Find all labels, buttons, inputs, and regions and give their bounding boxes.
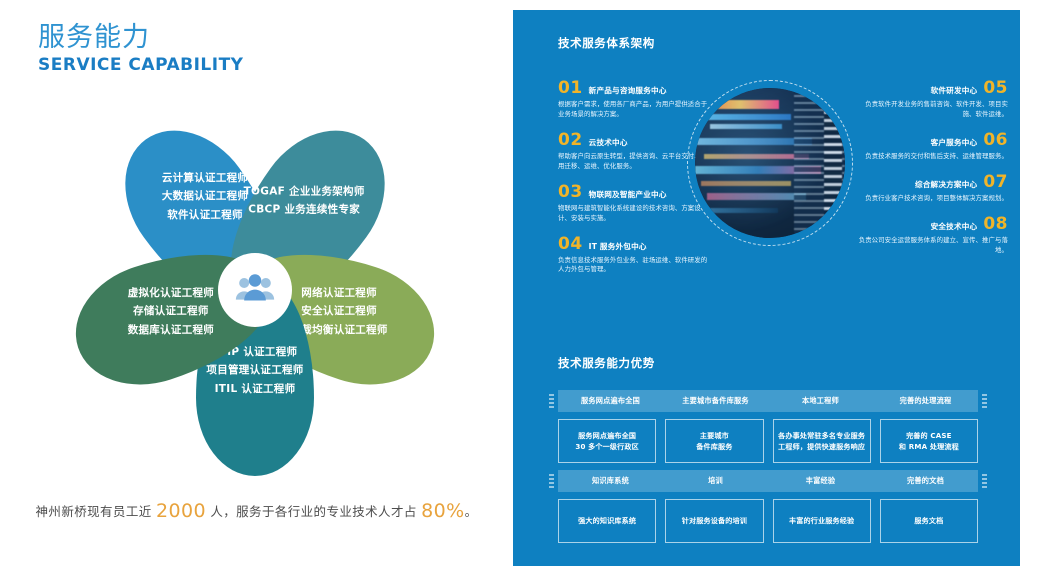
arch-item-06[interactable]: 客户服务中心 06 负责技术服务的交付和售后支持、运维管理服务。 (858, 132, 1008, 162)
table-cell[interactable]: 服务网点遍布全国30 多个一级行政区 (558, 419, 656, 463)
capability-flower-diagram: 云计算认证工程师大数据认证工程师软件认证工程师 TOGAF 企业业务架构师CBC… (30, 95, 480, 485)
arch-label-01: 新产品与咨询服务中心 (589, 85, 667, 96)
arch-number-05: 05 (983, 80, 1008, 97)
table-header-row-1: 服务网点遍布全国 主要城市备件库服务 本地工程师 完善的处理流程 (558, 390, 978, 412)
table-cell[interactable]: 完善的 CASE和 RMA 处理流程 (880, 419, 978, 463)
arch-desc-01: 根据客户需求，使用各厂商产品，为用户提供适合于业务场景的解决方案。 (558, 100, 708, 120)
table-body-row-2: 强大的知识库系统 针对服务设备的培训 丰富的行业服务经验 服务文档 (558, 499, 978, 543)
table-header-cell: 培训 (663, 476, 768, 486)
table-header-cell: 完善的文档 (873, 476, 978, 486)
arch-label-04: IT 服务外包中心 (589, 241, 647, 252)
arch-desc-06: 负责技术服务的交付和售后支持、运维管理服务。 (858, 152, 1008, 162)
title-english: SERVICE CAPABILITY (38, 55, 243, 75)
stat-number-employees: 2000 (156, 500, 206, 522)
arch-number-04: 04 (558, 236, 583, 253)
table-header-cell: 知识库系统 (558, 476, 663, 486)
people-group-icon (235, 273, 275, 307)
arch-desc-07: 负责行业客户技术咨询，项目整体解决方案规划。 (858, 194, 1008, 204)
stat-middle: 人，服务于各行业的专业技术人才占 (210, 504, 416, 519)
petal-label-4: 虚拟化认证工程师存储认证工程师数据库认证工程师 (112, 284, 230, 339)
table-header-row-2: 知识库系统 培训 丰富经验 完善的文档 (558, 470, 978, 492)
slide-root: 服务能力 SERVICE CAPABILITY 云计算认证工程师大数据认证工程师… (0, 0, 1041, 576)
arch-item-07[interactable]: 综合解决方案中心 07 负责行业客户技术咨询，项目整体解决方案规划。 (858, 174, 1008, 204)
arch-label-05: 软件研发中心 (931, 85, 978, 96)
arch-desc-04: 负责信息技术服务外包业务、驻场运维、软件研发的人力外包与管理。 (558, 256, 708, 276)
arch-item-08[interactable]: 安全技术中心 08 负责公司安全运营服务体系的建立、宣传、推广与落地。 (858, 216, 1008, 256)
advantage-table-2: 知识库系统 培训 丰富经验 完善的文档 强大的知识库系统 针对服务设备的培训 丰… (558, 470, 978, 543)
table-cell[interactable]: 丰富的行业服务经验 (773, 499, 871, 543)
table-header-cell: 服务网点遍布全国 (558, 396, 663, 406)
right-panel: 技术服务体系架构 01 新产品与咨询服务中心 根据客户需求，使用各厂商产品，为用… (513, 10, 1020, 566)
photo-bands (695, 88, 845, 238)
arch-item-02[interactable]: 02 云技术中心 帮助客户向云原生转型，提供咨询、云平台交付、应用迁移、运维、优… (558, 132, 708, 172)
arch-label-06: 客户服务中心 (931, 137, 978, 148)
arch-number-08: 08 (983, 216, 1008, 233)
arch-item-03[interactable]: 03 物联网及智能产业中心 物联网与建筑智能化系统建设的技术咨询、方案设计、安装… (558, 184, 708, 224)
arch-number-01: 01 (558, 80, 583, 97)
arch-desc-02: 帮助客户向云原生转型，提供咨询、云平台交付、应用迁移、运维、优化服务。 (558, 152, 708, 172)
arch-label-02: 云技术中心 (589, 137, 628, 148)
arch-number-07: 07 (983, 174, 1008, 191)
arch-desc-03: 物联网与建筑智能化系统建设的技术咨询、方案设计、安装与实施。 (558, 204, 708, 224)
stat-number-percent: 80% (421, 500, 464, 522)
section-title-architecture: 技术服务体系架构 (558, 35, 655, 51)
table-body-row-1: 服务网点遍布全国30 多个一级行政区 主要城市备件库服务 各办事处常驻多名专业服… (558, 419, 978, 463)
arch-item-05[interactable]: 软件研发中心 05 负责软件开发业务的售前咨询、软件开发、项目实施、软件运维。 (858, 80, 1008, 120)
table-header-cell: 丰富经验 (768, 476, 873, 486)
arch-item-04[interactable]: 04 IT 服务外包中心 负责信息技术服务外包业务、驻场运维、软件研发的人力外包… (558, 236, 708, 276)
arch-label-03: 物联网及智能产业中心 (589, 189, 667, 200)
datacenter-photo (695, 88, 845, 238)
arch-label-08: 安全技术中心 (931, 221, 978, 232)
table-header-cell: 完善的处理流程 (873, 396, 978, 406)
section-title-advantages: 技术服务能力优势 (558, 355, 655, 371)
arch-number-03: 03 (558, 184, 583, 201)
arch-item-01[interactable]: 01 新产品与咨询服务中心 根据客户需求，使用各厂商产品，为用户提供适合于业务场… (558, 80, 708, 120)
petal-label-1: TOGAF 企业业务架构师CBCP 业务连续性专家 (244, 182, 365, 219)
table-cell[interactable]: 主要城市备件库服务 (665, 419, 763, 463)
arch-desc-05: 负责软件开发业务的售前咨询、软件开发、项目实施、软件运维。 (858, 100, 1008, 120)
table-header-cell: 本地工程师 (768, 396, 873, 406)
table-cell[interactable]: 服务文档 (880, 499, 978, 543)
title-chinese: 服务能力 (38, 22, 243, 53)
left-section: 服务能力 SERVICE CAPABILITY 云计算认证工程师大数据认证工程师… (0, 0, 513, 576)
flower-hub (218, 253, 292, 327)
advantage-table-1: 服务网点遍布全国 主要城市备件库服务 本地工程师 完善的处理流程 服务网点遍布全… (558, 390, 978, 463)
table-cell[interactable]: 强大的知识库系统 (558, 499, 656, 543)
stat-prefix: 神州新桥现有员工近 (36, 504, 152, 519)
arch-number-06: 06 (983, 132, 1008, 149)
table-cell[interactable]: 针对服务设备的培训 (665, 499, 763, 543)
table-header-cell: 主要城市备件库服务 (663, 396, 768, 406)
arch-label-07: 综合解决方案中心 (915, 179, 977, 190)
table-cell[interactable]: 各办事处常驻多名专业服务工程师，提供快速服务响应 (773, 419, 871, 463)
arch-number-02: 02 (558, 132, 583, 149)
architecture-list-left: 01 新产品与咨询服务中心 根据客户需求，使用各厂商产品，为用户提供适合于业务场… (558, 80, 708, 287)
employee-statistic: 神州新桥现有员工近 2000 人，服务于各行业的专业技术人才占 80%。 (0, 500, 513, 522)
page-title: 服务能力 SERVICE CAPABILITY (38, 22, 243, 75)
stat-suffix: 。 (465, 504, 478, 519)
arch-desc-08: 负责公司安全运营服务体系的建立、宣传、推广与落地。 (858, 236, 1008, 256)
datacenter-photo-circle (695, 88, 845, 238)
architecture-list-right: 软件研发中心 05 负责软件开发业务的售前咨询、软件开发、项目实施、软件运维。 … (858, 80, 1008, 268)
